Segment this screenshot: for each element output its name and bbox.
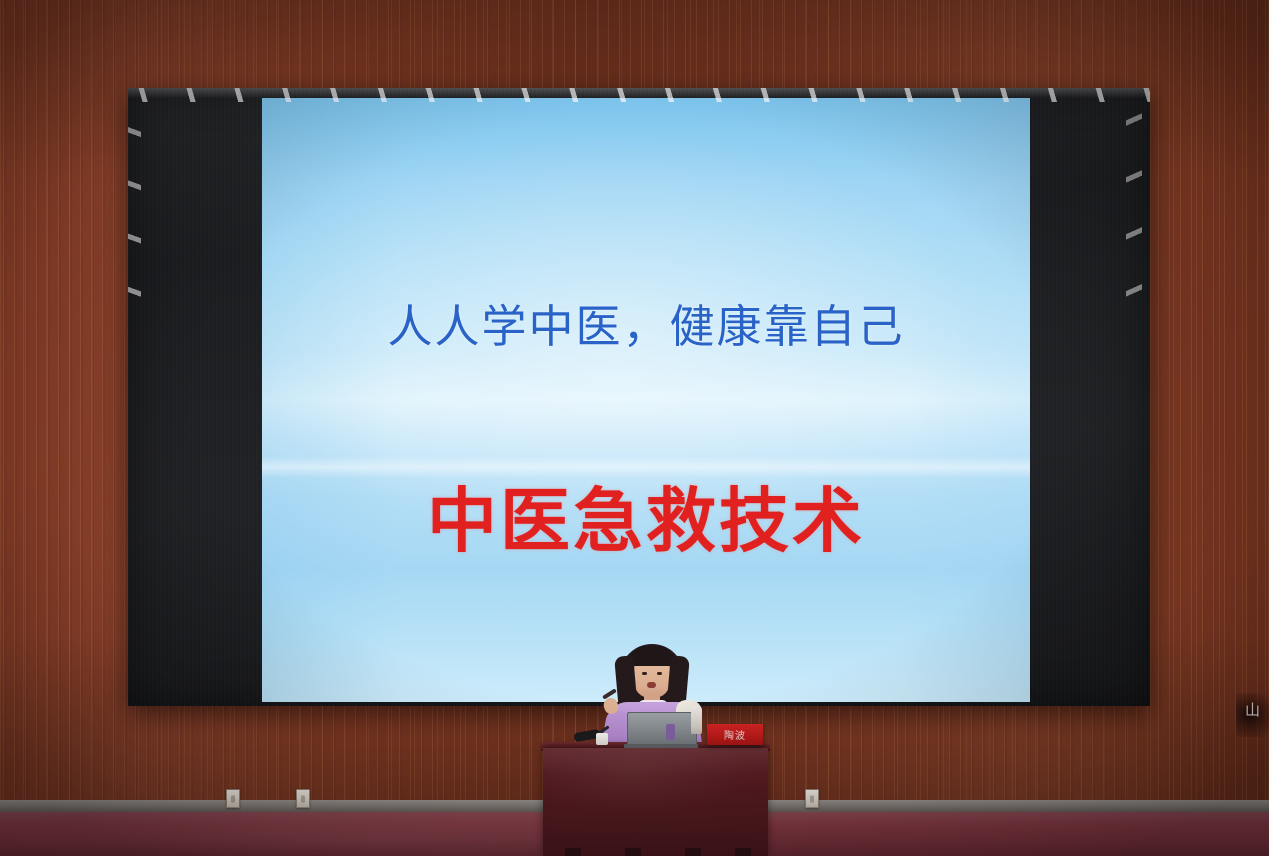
wall-outlet: [296, 789, 310, 808]
wall-sign: 山: [1236, 693, 1269, 737]
presenter-bangs: [630, 646, 674, 666]
desk-object: [666, 724, 675, 740]
lecture-hall-photo: 人人学中医，健康靠自己 中医急救技术: [0, 0, 1269, 856]
frame-gloss-right: [1126, 92, 1142, 307]
presenter-mouth: [647, 682, 656, 688]
wall-sign-glyph: 山: [1236, 703, 1269, 718]
podium-leg: [565, 848, 581, 856]
presenter-eye-left: [642, 672, 647, 675]
frame-gloss-top: [128, 88, 1150, 102]
podium: [543, 748, 768, 856]
slide-light-glow: [262, 98, 1030, 702]
slide-title: 中医急救技术: [262, 465, 1030, 566]
podium-sheen: [543, 748, 768, 856]
slide-subtitle: 人人学中医，健康靠自己: [262, 290, 1030, 355]
podium-leg: [685, 848, 701, 856]
name-placard-text: 陶波: [724, 727, 746, 742]
name-placard: 陶波: [707, 724, 763, 745]
frame-gloss-left: [128, 88, 141, 308]
presenter-eye-right: [657, 672, 662, 675]
laptop-base: [624, 744, 698, 748]
laptop-screen: [627, 712, 697, 746]
presentation-slide: 人人学中医，健康靠自己 中医急救技术: [262, 98, 1030, 702]
wall-outlet: [226, 789, 240, 808]
cup: [596, 733, 608, 745]
laptop: [627, 712, 695, 748]
podium-leg: [625, 848, 641, 856]
podium-legs: [543, 848, 768, 856]
wall-outlet: [805, 789, 819, 808]
water-bottle: [691, 706, 702, 734]
podium-leg: [735, 848, 751, 856]
